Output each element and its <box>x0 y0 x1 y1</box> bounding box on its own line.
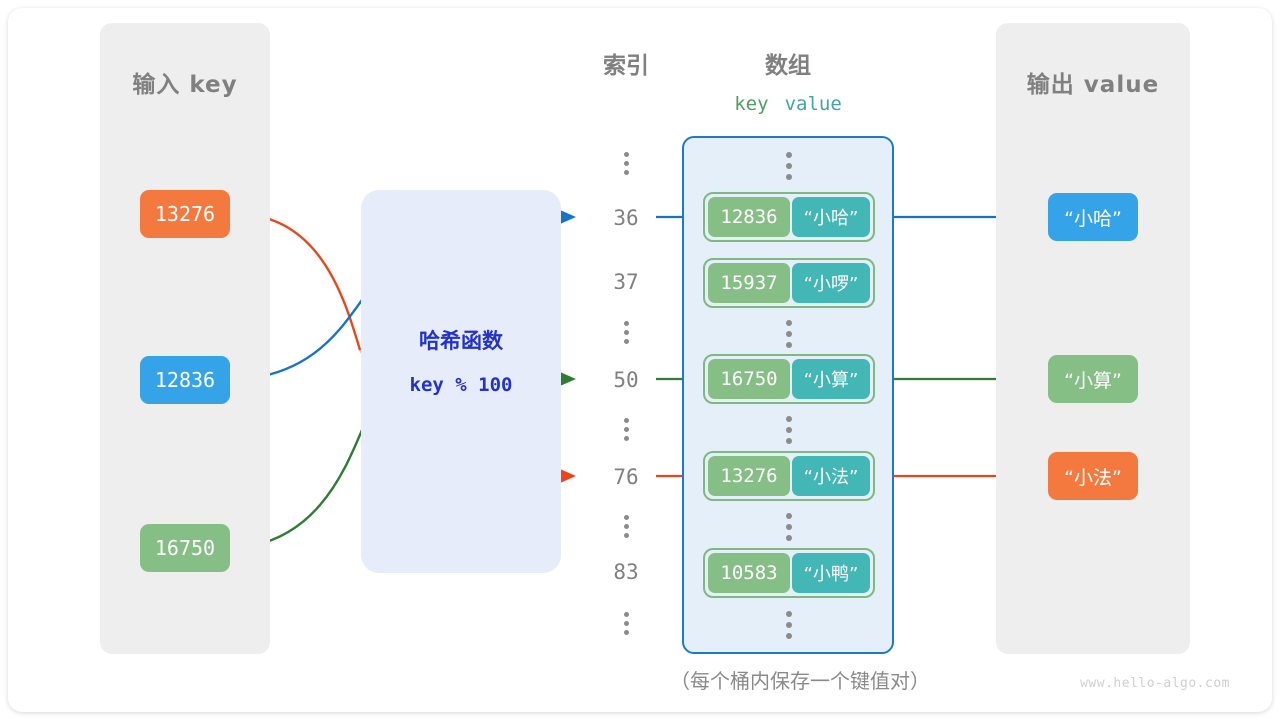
bucket-50-key: 16750 <box>708 359 790 399</box>
output-panel: 输出 value <box>996 23 1190 654</box>
index-ellipsis-3 <box>596 515 656 538</box>
index-column-header: 索引 <box>596 46 656 80</box>
bucket-76-value: “小法” <box>792 456 870 496</box>
bucket-37[interactable]: 15937 “小啰” <box>703 258 875 308</box>
array-header: 数组 <box>682 46 894 80</box>
index-item-36[interactable]: 36 <box>596 206 656 230</box>
output-value-xiaosuan[interactable]: “小算” <box>1048 355 1138 403</box>
index-ellipsis-2 <box>596 418 656 441</box>
bucket-37-value: “小啰” <box>792 263 870 303</box>
input-key-16750[interactable]: 16750 <box>140 524 230 572</box>
input-key-13276[interactable]: 13276 <box>140 190 230 238</box>
index-ellipsis-top <box>596 152 656 175</box>
bucket-50[interactable]: 16750 “小算” <box>703 354 875 404</box>
array-ellipsis-1 <box>782 320 796 348</box>
bucket-36[interactable]: 12836 “小哈” <box>703 192 875 242</box>
index-item-37[interactable]: 37 <box>596 270 656 294</box>
input-panel-title: 输入 key <box>100 65 270 99</box>
diagram-canvas: 输入 key 13276 12836 16750 哈希函数 key % 100 … <box>0 0 1280 720</box>
bucket-50-value: “小算” <box>792 359 870 399</box>
bucket-36-key: 12836 <box>708 197 790 237</box>
array-ellipsis-top <box>782 152 796 180</box>
bucket-83-value: “小鸭” <box>792 553 870 593</box>
output-value-xiaofa[interactable]: “小法” <box>1048 452 1138 500</box>
output-panel-title: 输出 value <box>996 65 1190 99</box>
array-kv-header: keyvalue <box>682 93 894 115</box>
bucket-76[interactable]: 13276 “小法” <box>703 451 875 501</box>
site-watermark: www.hello-algo.com <box>1070 676 1230 691</box>
array-value-header: value <box>785 93 842 115</box>
input-key-12836[interactable]: 12836 <box>140 356 230 404</box>
bucket-76-key: 13276 <box>708 456 790 496</box>
hash-function-formula: key % 100 <box>361 374 561 396</box>
array-key-header: key <box>734 93 768 115</box>
bucket-83[interactable]: 10583 “小鸭” <box>703 548 875 598</box>
output-value-xiaoha[interactable]: “小哈” <box>1048 193 1138 241</box>
bucket-36-value: “小哈” <box>792 197 870 237</box>
hash-function-box: 哈希函数 key % 100 <box>361 190 561 573</box>
array-ellipsis-2 <box>782 416 796 444</box>
index-item-76[interactable]: 76 <box>596 465 656 489</box>
bucket-37-key: 15937 <box>708 263 790 303</box>
array-ellipsis-3 <box>782 513 796 541</box>
hash-function-title: 哈希函数 <box>361 325 561 355</box>
index-ellipsis-1 <box>596 321 656 344</box>
index-column: 36 37 50 76 83 <box>596 130 656 660</box>
bucket-83-key: 10583 <box>708 553 790 593</box>
index-item-83[interactable]: 83 <box>596 560 656 584</box>
index-item-50[interactable]: 50 <box>596 368 656 392</box>
index-ellipsis-bottom <box>596 612 656 635</box>
array-ellipsis-bottom <box>782 611 796 639</box>
diagram-caption: （每个桶内保存一个键值对） <box>600 665 1000 694</box>
